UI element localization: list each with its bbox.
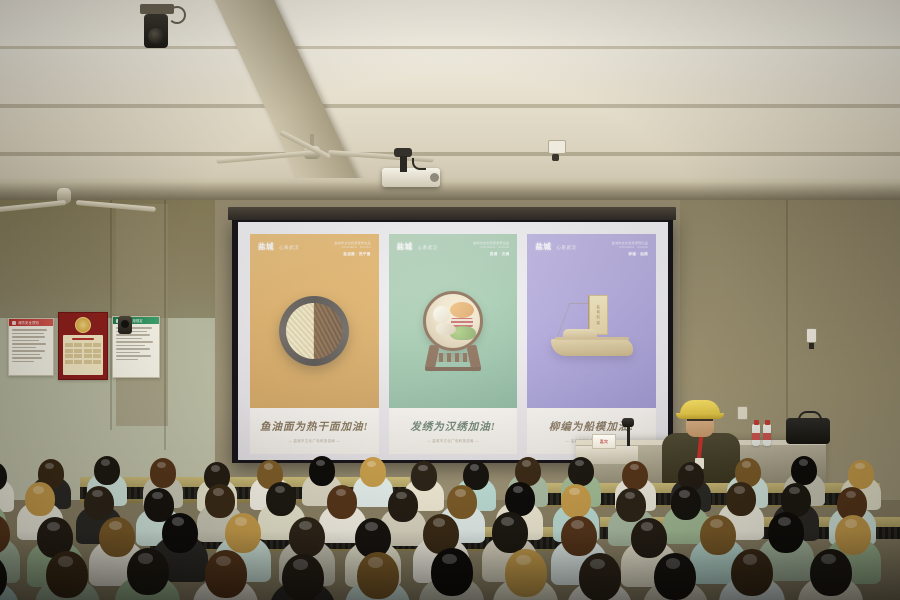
hair-highlight — [47, 522, 60, 531]
hair-highlight — [92, 490, 103, 498]
poster-meta-cn: 盐城市文化和旅游局出品 — [612, 241, 648, 246]
wall-speaker-icon — [118, 316, 132, 334]
stage-spotlight-icon — [140, 4, 174, 44]
room-background: 消防安全须知 教室使用规定 — [0, 0, 900, 600]
wall-notice-crest — [58, 312, 108, 380]
emblem-icon — [75, 317, 91, 333]
hair-highlight — [679, 490, 690, 498]
poster-noodles: 盐城 心系武汉 盐城市文化和旅游局出品 YANCHENG · WUHAN 鱼油面… — [250, 234, 379, 454]
microphone-icon — [622, 418, 634, 427]
poster-meta-en: YANCHENG · WUHAN — [473, 246, 509, 249]
hair-highlight — [710, 519, 723, 528]
microphone-stand — [627, 424, 630, 446]
hair-highlight — [799, 459, 808, 466]
poster-embroidery: 盐城 心系武汉 盐城市文化和旅游局出品 YANCHENG · WUHAN 发绣 … — [389, 234, 518, 454]
hair-highlight — [855, 463, 864, 470]
poster-meta-en: YANCHENG · WUHAN — [334, 246, 370, 249]
poster-tag: 鱼油面 · 热干面 — [334, 252, 370, 257]
hair-highlight — [590, 559, 605, 570]
ceiling — [0, 0, 900, 200]
wall-seam — [164, 200, 166, 450]
poster-meta-cn: 盐城市文化和旅游局出品 — [334, 241, 370, 246]
wall-switch-icon — [806, 328, 817, 343]
hair-highlight — [742, 461, 751, 468]
hair-highlight — [152, 492, 163, 500]
poster-caption-small: — 盐城市文化广电和旅游局 — — [288, 438, 340, 443]
poster-brand-sub: 心系武汉 — [418, 245, 438, 251]
poster-brand-sub: 心系武汉 — [556, 245, 576, 251]
hair-highlight — [522, 460, 531, 467]
hair-highlight — [625, 492, 636, 500]
wall-panel — [116, 204, 168, 426]
hair-highlight — [213, 488, 224, 496]
poster-artwork-noodle-bowl — [250, 286, 379, 376]
hair-highlight — [516, 555, 531, 566]
name-card-text: 嘉宾 — [600, 439, 609, 445]
sail-char: 船 — [596, 316, 599, 319]
hair-highlight — [45, 463, 54, 470]
black-bag — [786, 418, 830, 444]
ceiling-projector-icon — [382, 168, 440, 187]
hair-highlight — [778, 517, 791, 526]
water-bottles — [752, 424, 771, 446]
wall-seam — [110, 200, 112, 430]
lecture-hall-photo: 消防安全须知 教室使用规定 — [0, 0, 900, 600]
hair-highlight — [58, 556, 73, 567]
ceiling-sensor-icon — [548, 140, 566, 154]
sail-char: 盐 — [596, 306, 599, 309]
hair-highlight — [630, 464, 639, 471]
hair-highlight — [418, 465, 427, 472]
slide-three-posters: 盐城 心系武汉 盐城市文化和旅游局出品 YANCHENG · WUHAN 鱼油面… — [238, 222, 668, 460]
ceiling-band — [0, 104, 900, 108]
wall-outlet-icon — [737, 406, 748, 420]
poster-tag: 发绣 · 汉绣 — [473, 252, 509, 257]
hair-highlight — [442, 554, 457, 565]
poster-meta-cn: 盐城市文化和旅游局出品 — [473, 241, 509, 246]
hair-highlight — [368, 557, 383, 568]
hair-highlight — [743, 554, 758, 565]
poster-brand-sub: 心系武汉 — [279, 245, 299, 251]
notice-header: 消防安全须知 — [18, 320, 39, 325]
hair-highlight — [470, 464, 479, 471]
hair-highlight — [293, 559, 308, 570]
name-card: 嘉宾 — [592, 434, 616, 449]
poster-artwork-boat-model: 盐 城 船 模 — [527, 286, 656, 376]
poster-brand: 盐城 — [258, 241, 274, 252]
hair-highlight — [734, 486, 745, 494]
poster-brand: 盐城 — [397, 241, 413, 252]
sail-char: 城 — [596, 311, 599, 314]
projection-screen: 盐城 心系武汉 盐城市文化和旅游局出品 YANCHENG · WUHAN 鱼油面… — [238, 222, 668, 460]
wall-seam — [786, 200, 788, 450]
hair-highlight — [138, 553, 153, 564]
hair-highlight — [365, 522, 378, 531]
poster-brand: 盐城 — [535, 241, 551, 252]
sail-char: 模 — [596, 322, 599, 325]
hair-highlight — [455, 489, 466, 497]
ceiling-band — [0, 46, 900, 49]
poster-caption: 发绣为汉绣加油! — [410, 419, 496, 434]
hair-highlight — [216, 556, 231, 567]
poster-caption-small: — 盐城市文化广电和旅游局 — — [427, 438, 479, 443]
hair-highlight — [396, 492, 407, 500]
hair-highlight — [157, 462, 166, 469]
hair-highlight — [501, 517, 514, 526]
poster-caption: 鱼油面为热干面加油! — [260, 419, 369, 434]
ceiling-band — [0, 152, 900, 156]
poster-meta-en: YANCHENG · WUHAN — [612, 246, 648, 249]
poster-artwork-embroidery-screen — [389, 286, 518, 376]
hair-highlight — [33, 486, 44, 494]
glasses-icon — [687, 419, 713, 426]
wall-notice-red: 消防安全须知 — [8, 318, 54, 376]
projection-screen-case — [228, 207, 676, 220]
poster-boat: 盐城 心系武汉 盐城市文化和旅游局出品 YANCHENG · WUHAN 柳编 … — [527, 234, 656, 454]
seated-audience — [0, 455, 900, 600]
hair-highlight — [666, 558, 681, 569]
hair-highlight — [211, 465, 220, 472]
poster-tag: 柳编 · 船模 — [612, 252, 648, 257]
